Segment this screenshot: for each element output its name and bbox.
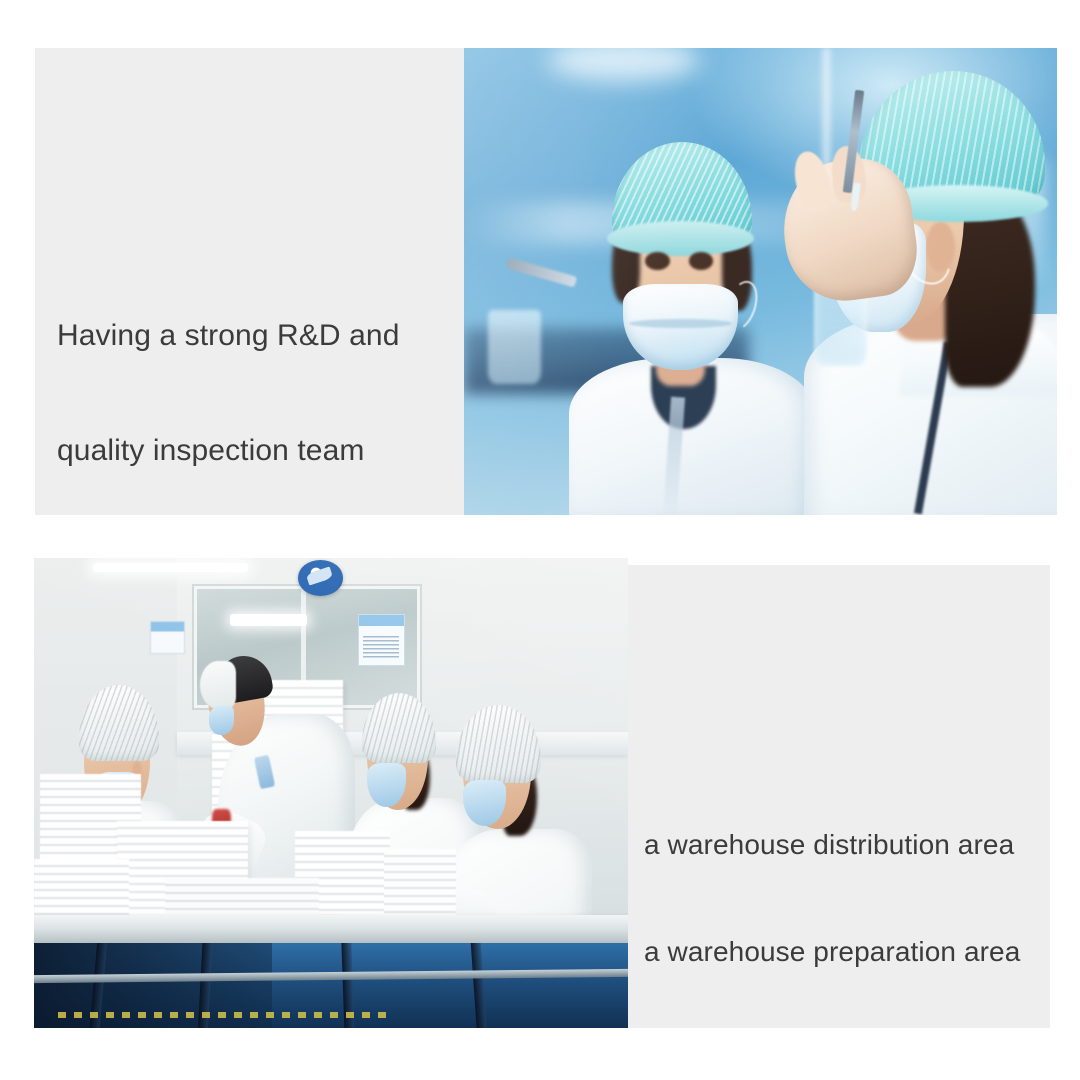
top-caption-line-2: quality inspection team: [57, 432, 399, 470]
bottom-caption-panel: a warehouse distribution area a warehous…: [628, 565, 1050, 1028]
beaker-left: [488, 310, 541, 385]
window-light: [230, 614, 307, 625]
top-caption-line-1: Having a strong R&D and: [57, 317, 399, 355]
floor-marking: [58, 1012, 391, 1019]
poster-text-lines: [363, 636, 399, 660]
hairnet: [200, 661, 236, 708]
hairnet: [456, 705, 541, 783]
eye-right: [689, 252, 714, 270]
lab-scene: [464, 48, 1057, 515]
steel-table-top: [34, 915, 628, 946]
eye-left: [645, 252, 670, 270]
top-caption: Having a strong R&D and quality inspecti…: [57, 240, 399, 547]
bottom-caption-line-1: a warehouse distribution area: [644, 827, 1020, 863]
hairnet-brim: [607, 221, 754, 256]
bottom-caption: a warehouse distribution area a warehous…: [644, 755, 1020, 1042]
lab-inspection-photo: [464, 48, 1057, 515]
ceiling-light-strip: [93, 563, 247, 572]
bottom-caption-line-2: a warehouse preparation area: [644, 934, 1020, 970]
hairnet: [362, 693, 436, 763]
top-section: Having a strong R&D and quality inspecti…: [35, 48, 1057, 515]
hairnet: [79, 685, 159, 761]
warehouse-packing-photo: [34, 558, 628, 1028]
shelf-box: [150, 621, 186, 654]
box-stack: [384, 849, 455, 924]
bottom-section: a warehouse distribution area a warehous…: [34, 558, 1050, 1028]
top-caption-panel: Having a strong R&D and quality inspecti…: [35, 48, 464, 515]
warehouse-scene: [34, 558, 628, 1028]
